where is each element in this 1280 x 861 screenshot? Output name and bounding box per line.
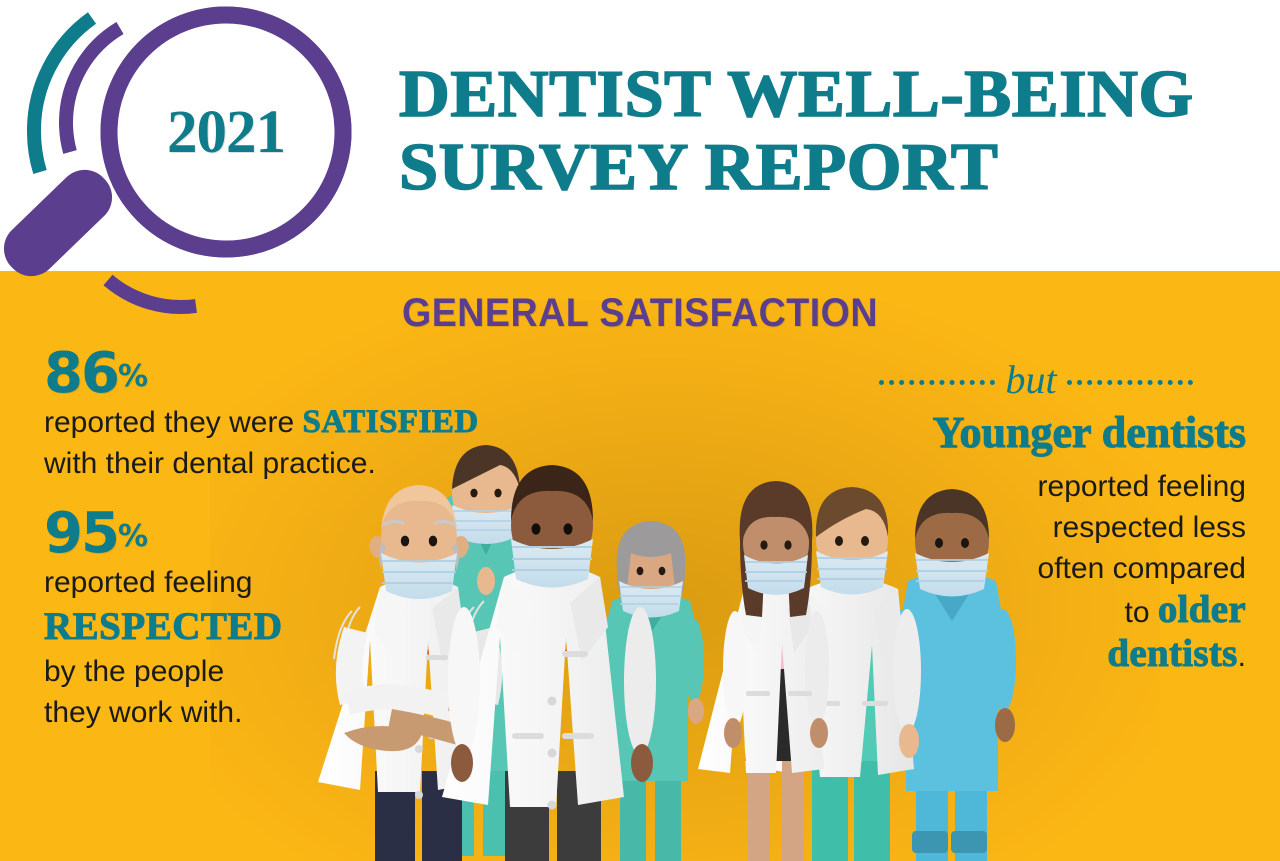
stat-satisfied-line-1: reported they were SATISFIED	[44, 402, 604, 443]
stat-satisfied-line-2: with their dental practice.	[44, 443, 604, 484]
right-callout-group: but Younger dentists reported feeling re…	[826, 360, 1246, 677]
left-statistics-group: 86% reported they were SATISFIED with th…	[44, 346, 604, 745]
right-line-4: to older	[826, 589, 1246, 633]
but-word: but	[999, 360, 1062, 400]
stat-value-95: 95%	[44, 506, 604, 562]
year-label: 2021	[131, 97, 321, 169]
right-line-4-pre: to	[1124, 596, 1157, 629]
right-line-2: respected less	[826, 507, 1246, 548]
section-heading: GENERAL SATISFACTION	[38, 291, 1241, 336]
keyword-dentists: dentists	[1107, 632, 1237, 675]
infographic-poster: 2021 DENTIST WELL-BEING SURVEY REPORT GE…	[0, 0, 1280, 861]
title-line-2: SURVEY REPORT	[399, 131, 1271, 204]
right-body-text: reported feeling respected less often co…	[826, 466, 1246, 677]
stat-respected: 95% reported feeling RESPECTED by the pe…	[44, 506, 604, 733]
figure-woman-dentist-pink-shirt	[698, 481, 829, 861]
stat-respected-keyword-row: RESPECTED	[44, 603, 604, 651]
keyword-respected: RESPECTED	[44, 603, 604, 651]
keyword-older: older	[1158, 588, 1246, 631]
title-line-1: DENTIST WELL-BEING	[399, 58, 1271, 131]
stat-text-pre: reported they were	[44, 406, 302, 439]
right-line-1: reported feeling	[826, 466, 1246, 507]
page-title: DENTIST WELL-BEING SURVEY REPORT	[399, 58, 1271, 204]
stat-satisfied: 86% reported they were SATISFIED with th…	[44, 346, 604, 484]
but-divider-row: but	[826, 360, 1246, 400]
stat-respected-line-1: reported feeling	[44, 562, 604, 603]
stat-respected-line-3: they work with.	[44, 692, 604, 733]
right-line-5-period: .	[1238, 640, 1246, 673]
right-line-5: dentists.	[826, 633, 1246, 677]
dotted-rule-right	[1067, 380, 1193, 385]
stat-value-86: 86%	[44, 346, 604, 402]
stat-number: 95	[44, 506, 118, 562]
younger-dentists-headline: Younger dentists	[826, 406, 1246, 460]
stat-respected-line-2: by the people	[44, 651, 604, 692]
keyword-satisfied: SATISFIED	[302, 404, 478, 440]
right-line-3: often compared	[826, 548, 1246, 589]
stat-number: 86	[44, 346, 118, 402]
dotted-rule-left	[879, 380, 995, 385]
